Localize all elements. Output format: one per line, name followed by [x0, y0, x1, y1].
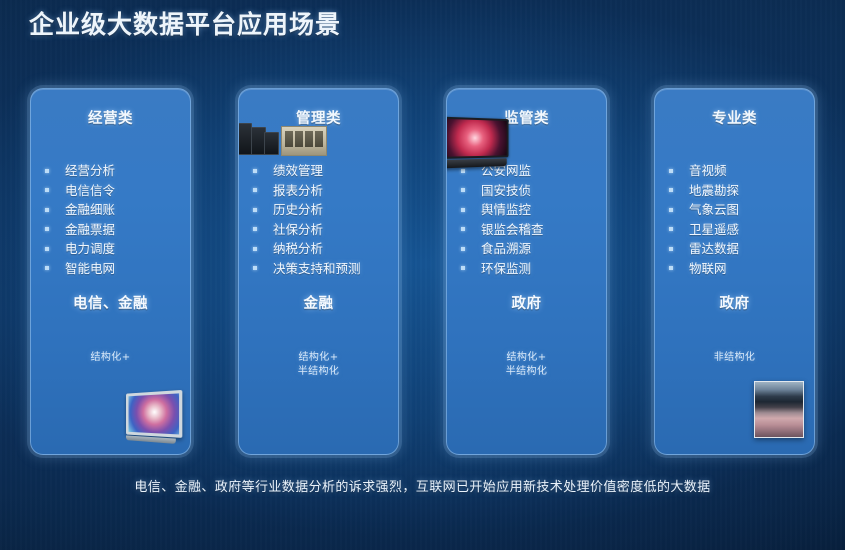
square-bullet-icon — [669, 227, 673, 231]
servers-building-icon — [238, 118, 327, 158]
list-item: 金融细账 — [45, 200, 184, 220]
card-datatype-label: 结构化+半结构化 — [239, 351, 398, 379]
square-bullet-icon — [669, 247, 673, 251]
card-sector-label: 电信、金融 — [31, 292, 190, 313]
list-item: 电信信令 — [45, 181, 184, 201]
scenario-card-supervision[interactable]: 监管类 公安网监 国安技侦 舆情监控 银监会稽查 食品溯源 环保监测 政府 结构… — [446, 88, 607, 455]
list-item: 卫星遥感 — [669, 220, 808, 240]
list-item-label: 金融细账 — [65, 200, 115, 220]
square-bullet-icon — [45, 266, 49, 270]
square-bullet-icon — [253, 169, 257, 173]
scenario-card-row: 经营类 经营分析 电信信令 金融细账 金融票据 电力调度 智能电网 电信、金融 … — [0, 88, 845, 458]
list-item: 国安技侦 — [461, 181, 600, 201]
card-item-list: 公安网监 国安技侦 舆情监控 银监会稽查 食品溯源 环保监测 — [461, 161, 600, 278]
list-item: 音视频 — [669, 161, 808, 181]
server-rack — [238, 123, 252, 155]
square-bullet-icon — [461, 227, 465, 231]
building-window — [305, 131, 313, 147]
list-item-label: 智能电网 — [65, 259, 115, 279]
list-item-label: 电力调度 — [65, 239, 115, 259]
footer-note: 电信、金融、政府等行业数据分析的诉求强烈，互联网已开始应用新技术处理价值密度低的… — [0, 476, 845, 495]
list-item: 经营分析 — [45, 161, 184, 181]
list-item-label: 金融票据 — [65, 220, 115, 240]
list-item: 银监会稽查 — [461, 220, 600, 240]
list-item: 地震勘探 — [669, 181, 808, 201]
list-item-label: 社保分析 — [273, 220, 323, 240]
card-sector-label: 政府 — [655, 292, 814, 313]
list-item-label: 气象云图 — [689, 200, 739, 220]
list-item: 社保分析 — [253, 220, 392, 240]
card-datatype-label: 结构化+半结构化 — [447, 351, 606, 379]
square-bullet-icon — [669, 208, 673, 212]
card-datatype-label: 非结构化 — [655, 351, 814, 365]
square-bullet-icon — [461, 247, 465, 251]
list-item: 雷达数据 — [669, 239, 808, 259]
card-item-list: 经营分析 电信信令 金融细账 金融票据 电力调度 智能电网 — [45, 161, 184, 278]
monitor-screen — [126, 390, 182, 438]
slide-canvas: 企业级大数据平台应用场景 经营类 经营分析 电信信令 金融细账 金融票据 电力调… — [0, 0, 845, 550]
card-sector-label: 金融 — [239, 292, 398, 313]
list-item-label: 决策支持和预测 — [273, 259, 361, 279]
list-item: 历史分析 — [253, 200, 392, 220]
list-item-label: 地震勘探 — [689, 181, 739, 201]
laptop-screen — [446, 117, 508, 159]
laptop-icon — [446, 117, 508, 168]
square-bullet-icon — [461, 266, 465, 270]
building-graphic — [281, 126, 327, 156]
square-bullet-icon — [669, 188, 673, 192]
list-item-label: 经营分析 — [65, 161, 115, 181]
building-window — [315, 131, 323, 147]
list-item: 环保监测 — [461, 259, 600, 279]
square-bullet-icon — [253, 188, 257, 192]
list-item: 决策支持和预测 — [253, 259, 392, 279]
list-item-label: 银监会稽查 — [481, 220, 544, 240]
list-item: 报表分析 — [253, 181, 392, 201]
list-item-label: 纳税分析 — [273, 239, 323, 259]
card-title: 经营类 — [39, 107, 182, 128]
card-title: 专业类 — [663, 107, 806, 128]
scenario-card-operations[interactable]: 经营类 经营分析 电信信令 金融细账 金融票据 电力调度 智能电网 电信、金融 … — [30, 88, 191, 455]
list-item: 智能电网 — [45, 259, 184, 279]
page-title: 企业级大数据平台应用场景 — [29, 5, 341, 41]
list-item-label: 报表分析 — [273, 181, 323, 201]
list-item-label: 食品溯源 — [481, 239, 531, 259]
list-item: 绩效管理 — [253, 161, 392, 181]
list-item: 食品溯源 — [461, 239, 600, 259]
card-sector-label: 政府 — [447, 292, 606, 313]
monitor-icon — [126, 390, 180, 440]
list-item-label: 雷达数据 — [689, 239, 739, 259]
scenario-card-specialized[interactable]: 专业类 音视频 地震勘探 气象云图 卫星遥感 雷达数据 物联网 政府 非结构化 — [654, 88, 815, 455]
list-item: 舆情监控 — [461, 200, 600, 220]
card-item-list: 音视频 地震勘探 气象云图 卫星遥感 雷达数据 物联网 — [669, 161, 808, 278]
list-item: 物联网 — [669, 259, 808, 279]
list-item-label: 物联网 — [689, 259, 727, 279]
list-item-label: 环保监测 — [481, 259, 531, 279]
square-bullet-icon — [669, 266, 673, 270]
cloud-photo-icon — [754, 381, 804, 438]
building-window — [295, 131, 303, 147]
square-bullet-icon — [253, 266, 257, 270]
building-window — [285, 131, 293, 147]
square-bullet-icon — [461, 208, 465, 212]
square-bullet-icon — [45, 208, 49, 212]
list-item-label: 音视频 — [689, 161, 727, 181]
list-item-label: 绩效管理 — [273, 161, 323, 181]
square-bullet-icon — [253, 208, 257, 212]
card-datatype-label: 结构化+ — [31, 351, 190, 365]
square-bullet-icon — [45, 227, 49, 231]
card-item-list: 绩效管理 报表分析 历史分析 社保分析 纳税分析 决策支持和预测 — [253, 161, 392, 278]
server-rack — [264, 132, 279, 155]
list-item-label: 舆情监控 — [481, 200, 531, 220]
list-item: 纳税分析 — [253, 239, 392, 259]
square-bullet-icon — [253, 247, 257, 251]
square-bullet-icon — [461, 188, 465, 192]
list-item: 电力调度 — [45, 239, 184, 259]
list-item-label: 电信信令 — [65, 181, 115, 201]
square-bullet-icon — [45, 188, 49, 192]
list-item-label: 国安技侦 — [481, 181, 531, 201]
list-item-label: 卫星遥感 — [689, 220, 739, 240]
square-bullet-icon — [669, 169, 673, 173]
square-bullet-icon — [45, 247, 49, 251]
list-item: 气象云图 — [669, 200, 808, 220]
square-bullet-icon — [253, 227, 257, 231]
square-bullet-icon — [45, 169, 49, 173]
scenario-card-management[interactable]: 管理类 绩效管理 报表分析 历史分析 社保分析 纳税分析 决策支持和预测 金融 … — [238, 88, 399, 455]
square-bullet-icon — [461, 169, 465, 173]
list-item: 金融票据 — [45, 220, 184, 240]
list-item-label: 历史分析 — [273, 200, 323, 220]
